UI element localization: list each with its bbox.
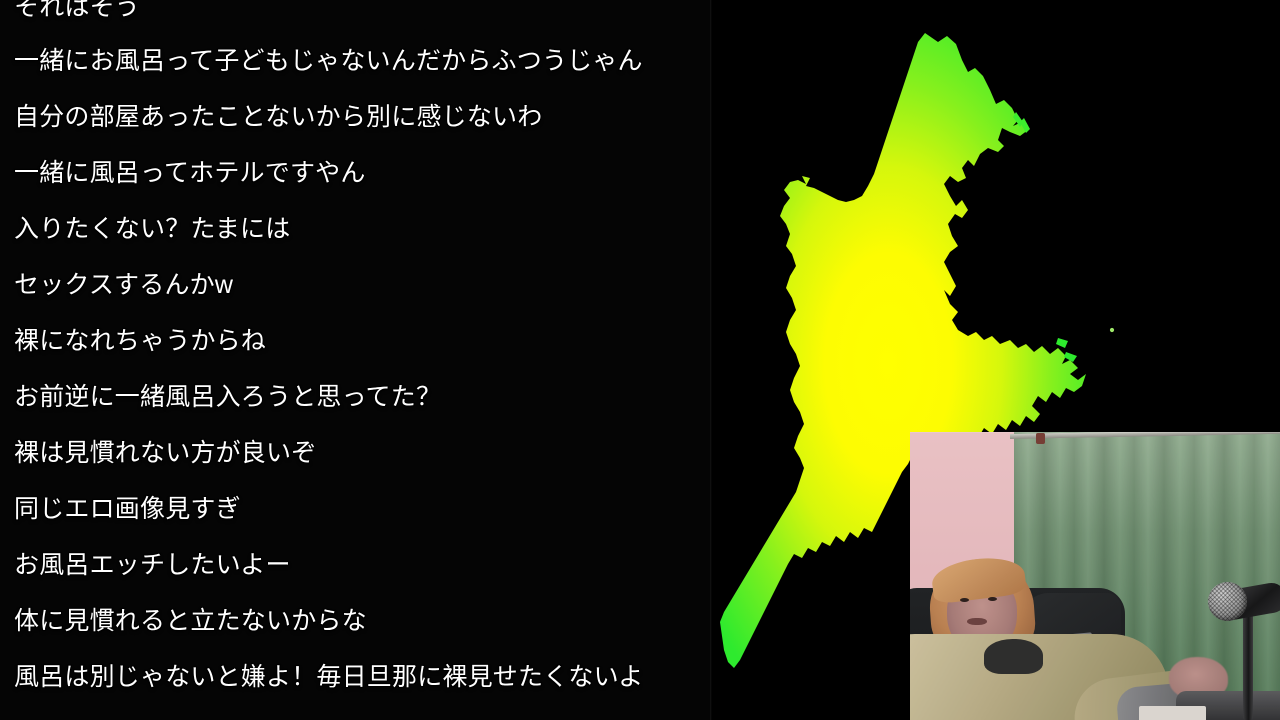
comment-line: セックスするんかw xyxy=(14,270,233,300)
streamer-eye-left xyxy=(960,598,969,602)
streamer-mouth xyxy=(967,618,987,625)
comment-line: 自分の部屋あったことないから別に感じないわ xyxy=(14,102,542,132)
microphone-mesh-icon xyxy=(1208,582,1247,621)
comment-line: お前逆に一緒風呂入ろうと思ってた？ xyxy=(14,382,441,412)
comment-line: 同じエロ画像見すぎ xyxy=(14,494,241,524)
streamer-eye-right xyxy=(988,597,997,601)
comment-line: 一緒に風呂ってホテルですやん xyxy=(14,158,366,188)
comment-line: 入りたくない？たまには xyxy=(14,214,290,244)
comment-panel: それはそう 一緒にお風呂って子どもじゃないんだからふつうじゃん 自分の部屋あった… xyxy=(0,0,710,720)
comment-line: それはそう xyxy=(14,0,140,22)
map-island xyxy=(1064,352,1077,362)
comment-line: 裸になれちゃうからね xyxy=(14,326,266,356)
streamer-webcam-overlay[interactable] xyxy=(910,432,1280,720)
comment-line: 一緒にお風呂って子どもじゃないんだからふつうじゃん xyxy=(14,46,643,76)
streamer-inner-shirt xyxy=(984,639,1043,674)
comment-line: 裸は見慣れない方が良いぞ xyxy=(14,438,316,468)
curtain-clip xyxy=(1036,433,1045,444)
comment-line: お風呂エッチしたいよー xyxy=(14,550,291,580)
comment-line: 風呂は別じゃないと嫌よ！毎日旦那に裸見せたくないよ xyxy=(14,662,644,692)
map-island xyxy=(1056,338,1068,348)
microphone-stand xyxy=(1243,613,1253,720)
webcam-video-frame xyxy=(910,432,1280,720)
map-island-dot xyxy=(1110,328,1114,332)
video-player-stage: それはそう 一緒にお風呂って子どもじゃないんだからふつうじゃん 自分の部屋あった… xyxy=(0,0,1280,720)
desk-paper xyxy=(1139,706,1206,720)
comment-line: 体に見慣れると立たないからな xyxy=(14,606,367,636)
